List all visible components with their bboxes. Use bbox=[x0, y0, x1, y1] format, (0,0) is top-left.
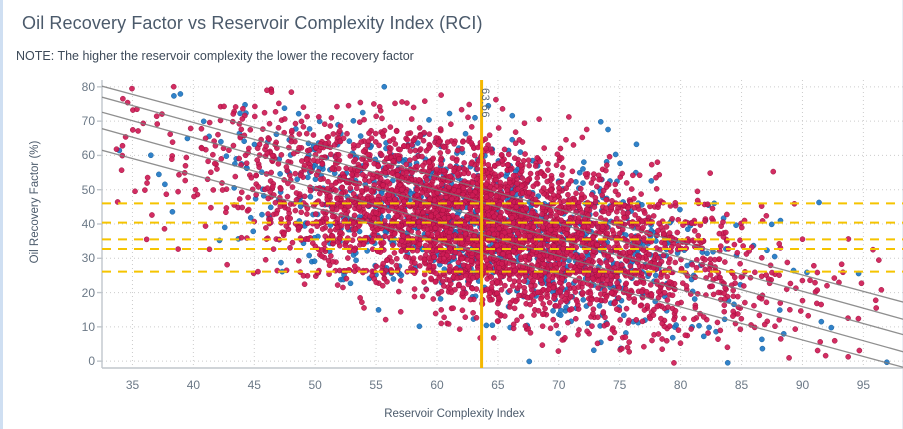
x-tick-label-80: 80 bbox=[674, 378, 687, 392]
vertical-line-label: 63.66 bbox=[479, 88, 491, 118]
y-tick-label-80: 80 bbox=[65, 80, 95, 94]
x-tick-label-40: 40 bbox=[187, 378, 200, 392]
scatter-points[interactable] bbox=[114, 84, 890, 365]
x-tick-label-90: 90 bbox=[796, 378, 809, 392]
x-tick-label-75: 75 bbox=[613, 378, 626, 392]
y-tick-label-0: 0 bbox=[65, 354, 95, 368]
x-axis-title: Reservoir Complexity Index bbox=[3, 408, 903, 420]
y-tick-label-60: 60 bbox=[65, 148, 95, 162]
chart-app: Oil Recovery Factor vs Reservoir Complex… bbox=[0, 0, 903, 429]
y-axis-title: Oil Recovery Factor (%) bbox=[29, 122, 41, 282]
y-tick-label-30: 30 bbox=[65, 251, 95, 265]
y-tick-label-40: 40 bbox=[65, 217, 95, 231]
y-tick-label-20: 20 bbox=[65, 286, 95, 300]
y-tick-label-10: 10 bbox=[65, 320, 95, 334]
scatter-plot-svg[interactable] bbox=[3, 0, 903, 429]
y-tick-label-50: 50 bbox=[65, 183, 95, 197]
y-tick-label-70: 70 bbox=[65, 114, 95, 128]
x-tick-label-45: 45 bbox=[248, 378, 261, 392]
x-tick-label-85: 85 bbox=[735, 378, 748, 392]
x-tick-label-55: 55 bbox=[369, 378, 382, 392]
x-tick-label-35: 35 bbox=[126, 378, 139, 392]
x-tick-label-95: 95 bbox=[857, 378, 870, 392]
x-tick-label-50: 50 bbox=[309, 378, 322, 392]
plot-area[interactable]: Oil Recovery Factor (%) Reservoir Comple… bbox=[3, 0, 903, 429]
x-tick-label-60: 60 bbox=[430, 378, 443, 392]
x-tick-label-70: 70 bbox=[552, 378, 565, 392]
x-tick-label-65: 65 bbox=[491, 378, 504, 392]
